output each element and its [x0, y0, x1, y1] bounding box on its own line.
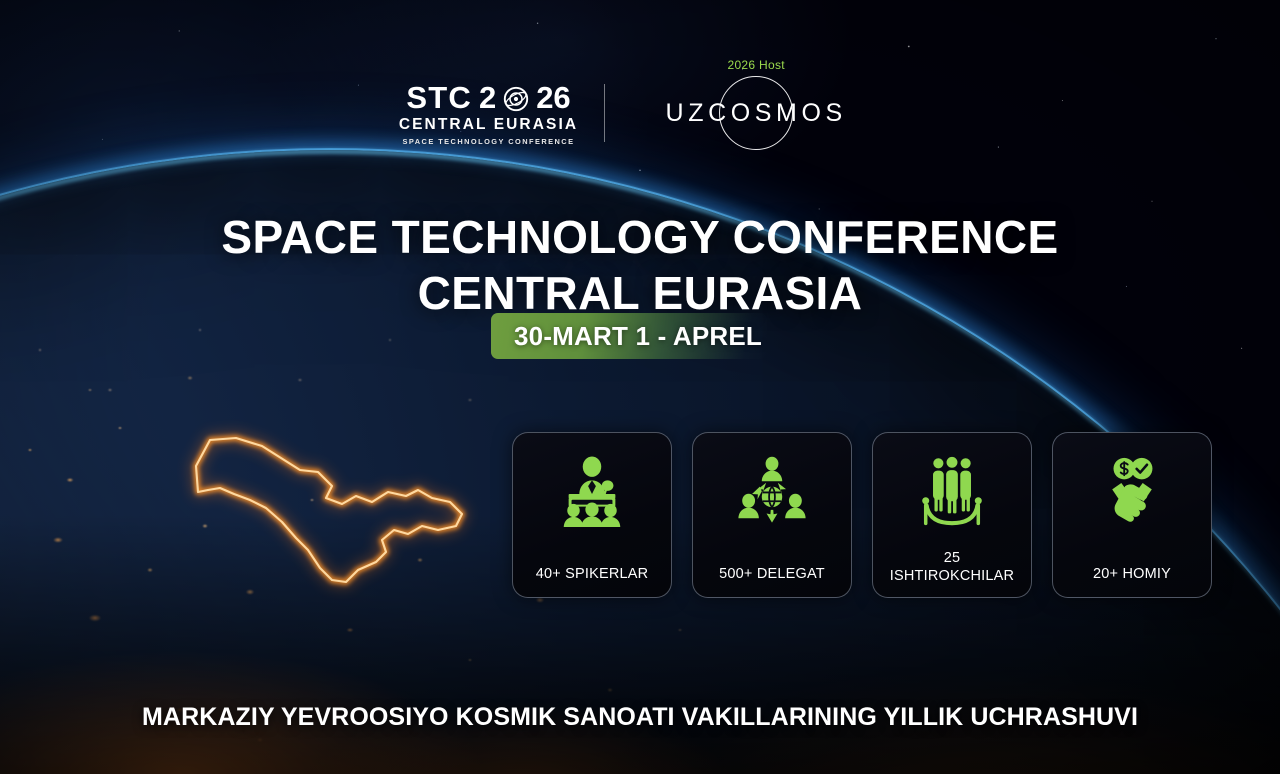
stat-card-caption: 20+ HOMIY — [1053, 565, 1211, 583]
host-tag: 2026 Host — [727, 58, 784, 72]
stc-logo[interactable]: STC 2 26 CENTRAL EURASIA SPACE TECHNOLOG… — [399, 82, 604, 146]
stat-card-delegates[interactable]: 500+ DELEGAT — [692, 432, 852, 598]
speaker-podium-icon — [553, 455, 631, 529]
stc-subtitle: CENTRAL EURASIA — [399, 116, 578, 134]
people-barrier-icon — [913, 455, 991, 529]
stat-card-caption: 500+ DELEGAT — [693, 565, 851, 583]
date-badge: 30-MART 1 - APREL — [491, 313, 767, 359]
uzcosmos-logo[interactable]: 2026 Host UZCOSMOS — [605, 58, 881, 152]
handshake-money-icon — [1093, 455, 1171, 529]
page-title: SPACE TECHNOLOGY CONFERENCE CENTRAL EURA… — [0, 209, 1280, 321]
planet-orbit-icon — [503, 86, 529, 112]
stat-value: 25 — [944, 550, 961, 566]
stats-card-row: 40+ SPIKERLAR — [512, 432, 1212, 598]
stat-card-sponsors[interactable]: 20+ HOMIY — [1052, 432, 1212, 598]
stc-letters: STC — [406, 82, 472, 113]
stc-wordmark: STC 2 26 — [406, 82, 570, 113]
stat-card-caption: 25 ISHTIROKCHILAR — [873, 549, 1031, 585]
title-line-1: SPACE TECHNOLOGY CONFERENCE — [221, 211, 1058, 263]
date-badge-label: 30-MART 1 - APREL — [514, 321, 762, 352]
stc-year-prefix: 2 — [479, 82, 496, 113]
global-delegates-icon — [733, 455, 811, 529]
stc-year-suffix: 26 — [536, 82, 570, 113]
uzcosmos-wordmark: UZCOSMOS — [666, 99, 847, 128]
footer-tagline: MARKAZIY YEVROOSIYO KOSMIK SANOATI VAKIL… — [0, 703, 1280, 732]
stat-label: ISHTIROKCHILAR — [890, 568, 1014, 584]
logo-row: STC 2 26 CENTRAL EURASIA SPACE TECHNOLOG… — [0, 58, 1280, 152]
stat-card-speakers[interactable]: 40+ SPIKERLAR — [512, 432, 672, 598]
stc-tagline: SPACE TECHNOLOGY CONFERENCE — [403, 137, 575, 146]
conference-poster: STC 2 26 CENTRAL EURASIA SPACE TECHNOLOG… — [0, 0, 1280, 774]
stat-card-caption: 40+ SPIKERLAR — [513, 565, 671, 583]
stat-card-participants[interactable]: 25 ISHTIROKCHILAR — [872, 432, 1032, 598]
